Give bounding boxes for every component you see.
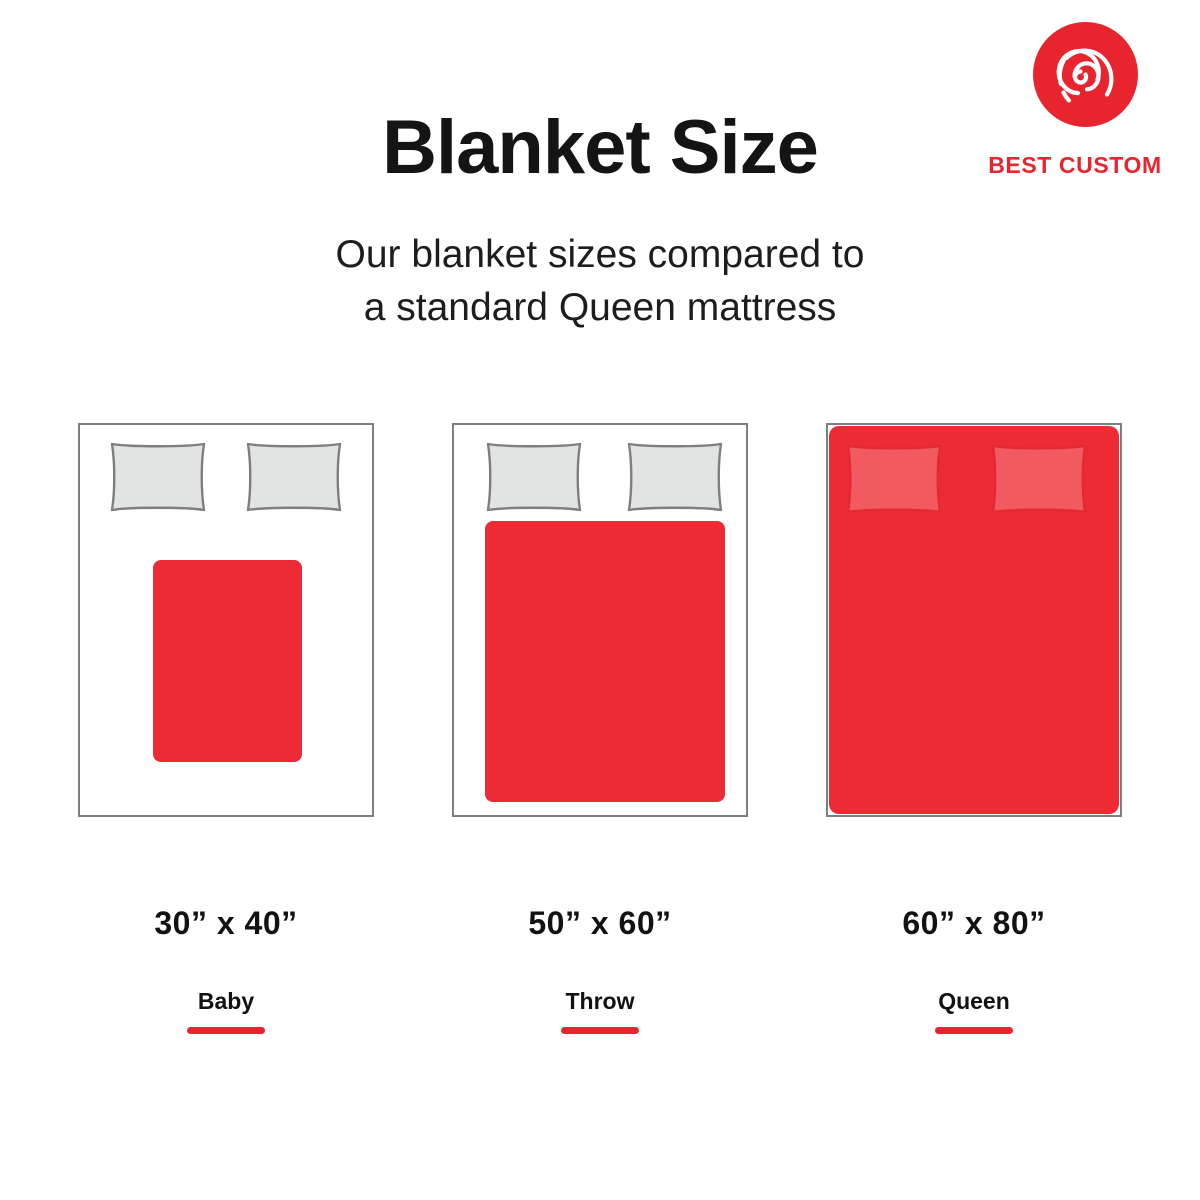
- pillow-left: [844, 443, 944, 515]
- dimensions-label: 50” x 60”: [452, 905, 748, 942]
- bed-diagram-baby: [78, 423, 374, 817]
- pillow-left: [484, 441, 584, 513]
- pillow-right: [625, 441, 725, 513]
- size-name-label: Queen: [826, 988, 1122, 1015]
- page-title: Blanket Size: [0, 104, 1200, 191]
- pillow-right: [244, 441, 344, 513]
- pillow-left: [108, 441, 208, 513]
- size-name-label: Baby: [78, 988, 374, 1015]
- caption-queen: 60” x 80” Queen: [826, 905, 1122, 1034]
- underline-accent-bar: [187, 1027, 265, 1034]
- caption-baby: 30” x 40” Baby: [78, 905, 374, 1034]
- blanket-baby: [153, 560, 302, 762]
- pillow-right: [989, 443, 1089, 515]
- page-subtitle: Our blanket sizes compared to a standard…: [0, 228, 1200, 334]
- subtitle-line-2: a standard Queen mattress: [0, 281, 1200, 334]
- underline-accent-bar: [561, 1027, 639, 1034]
- infographic-page: BEST CUSTOM Blanket Size Our blanket siz…: [0, 0, 1200, 1200]
- dimensions-label: 30” x 40”: [78, 905, 374, 942]
- bed-diagram-throw: [452, 423, 748, 817]
- underline-accent-bar: [935, 1027, 1013, 1034]
- size-name-label: Throw: [452, 988, 748, 1015]
- blanket-throw: [485, 521, 725, 802]
- subtitle-line-1: Our blanket sizes compared to: [0, 228, 1200, 281]
- dimensions-label: 60” x 80”: [826, 905, 1122, 942]
- bed-diagram-queen: [826, 423, 1122, 817]
- caption-throw: 50” x 60” Throw: [452, 905, 748, 1034]
